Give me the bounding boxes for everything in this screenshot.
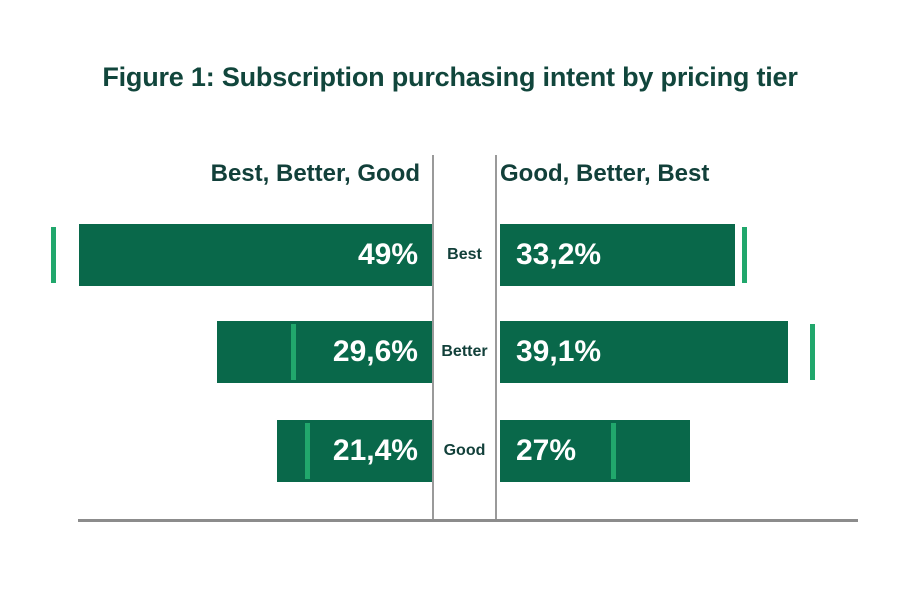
category-label-better: Better [434, 321, 495, 383]
bar-value-right-good: 27% [516, 420, 576, 482]
chart-title: Figure 1: Subscription purchasing intent… [0, 62, 900, 93]
category-label-best: Best [434, 224, 495, 286]
reference-tick-left-best [51, 227, 56, 283]
axis-baseline [78, 519, 858, 522]
bar-value-left-best: 49% [358, 224, 418, 286]
reference-tick-right-good [611, 423, 616, 479]
reference-tick-right-best [742, 227, 747, 283]
bar-left-best[interactable]: 49% [79, 224, 432, 286]
bar-value-right-best: 33,2% [516, 224, 601, 286]
column-header-right: Good, Better, Best [500, 160, 709, 188]
reference-tick-right-better [810, 324, 815, 380]
bar-right-best[interactable]: 33,2% [500, 224, 735, 286]
bar-right-better[interactable]: 39,1% [500, 321, 788, 383]
bar-right-good[interactable]: 27% [500, 420, 690, 482]
bar-value-right-better: 39,1% [516, 321, 601, 383]
bar-left-better[interactable]: 29,6% [217, 321, 432, 383]
divider-right [495, 155, 497, 521]
bar-value-left-better: 29,6% [333, 321, 418, 383]
column-header-left: Best, Better, Good [0, 160, 432, 188]
bar-value-left-good: 21,4% [333, 420, 418, 482]
bar-left-good[interactable]: 21,4% [277, 420, 432, 482]
figure-container: Figure 1: Subscription purchasing intent… [0, 0, 900, 600]
category-label-good: Good [434, 420, 495, 482]
reference-tick-left-good [305, 423, 310, 479]
reference-tick-left-better [291, 324, 296, 380]
